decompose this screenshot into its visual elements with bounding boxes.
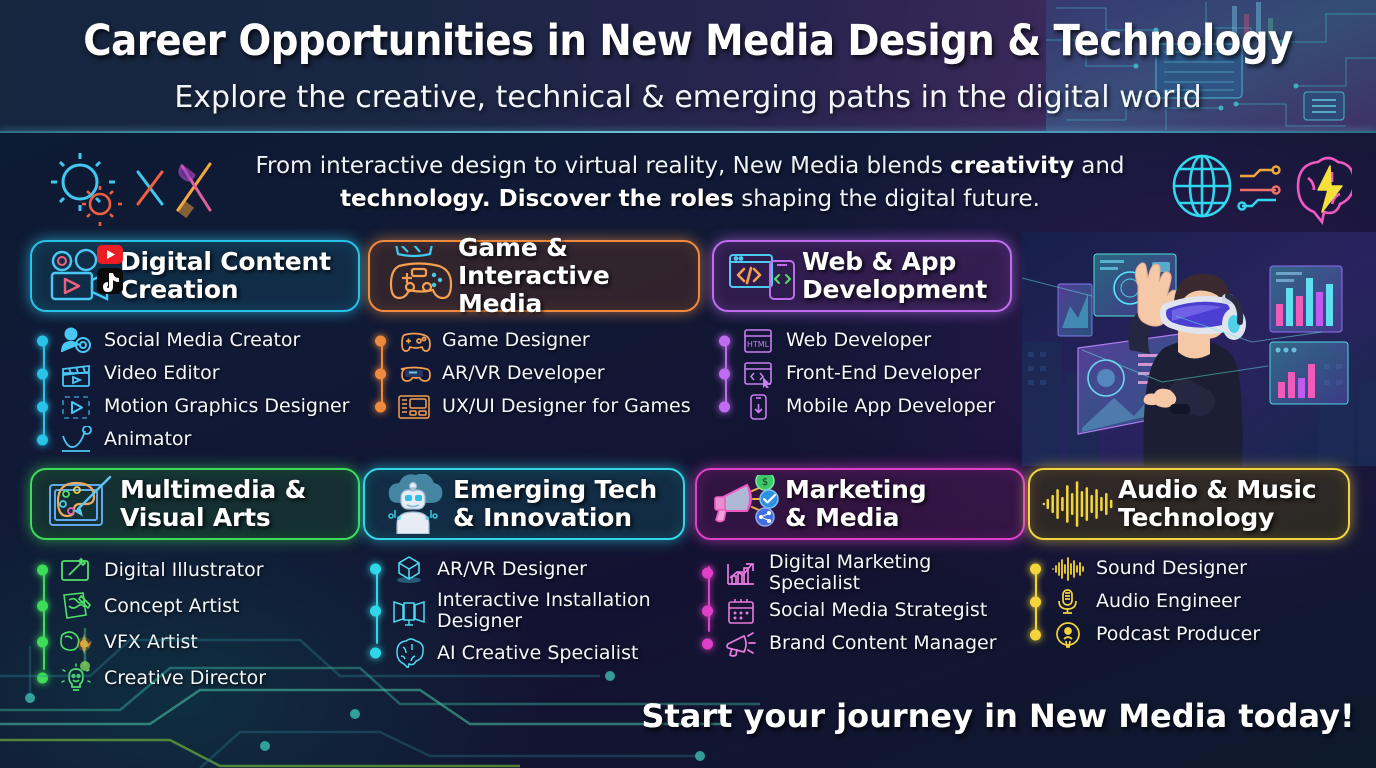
bullet-dot bbox=[370, 564, 381, 575]
card-header[interactable]: Digital Content Creation bbox=[30, 240, 360, 312]
card-title: Multimedia & Visual Arts bbox=[120, 476, 306, 532]
list-item[interactable]: AR/VR Designer bbox=[387, 552, 685, 586]
card-header[interactable]: Web & App Development bbox=[712, 240, 1012, 312]
card-title: Game & Interactive Media bbox=[458, 234, 684, 318]
card-title-line2: Technology bbox=[1118, 504, 1316, 532]
list-item[interactable]: Motion Graphics Designer bbox=[54, 390, 360, 423]
intro-text-part1: From interactive design to virtual reali… bbox=[255, 153, 950, 179]
item-label: Web Developer bbox=[786, 330, 931, 351]
list-item[interactable]: Animator bbox=[54, 423, 360, 456]
item-label: Social Media Creator bbox=[104, 330, 300, 351]
item-label: AR/VR Designer bbox=[437, 559, 587, 580]
intro-band: From interactive design to virtual reali… bbox=[0, 140, 1376, 232]
svg-text:$: $ bbox=[762, 477, 768, 488]
intro-text: From interactive design to virtual reali… bbox=[235, 150, 1145, 216]
list-item[interactable]: Brand Content Manager bbox=[719, 627, 1025, 660]
item-label: Podcast Producer bbox=[1096, 624, 1260, 645]
bullet-dot bbox=[1030, 596, 1041, 607]
list-item[interactable]: Digital Illustrator bbox=[54, 552, 360, 588]
list-item[interactable]: Social Media Strategist bbox=[719, 594, 1025, 627]
card-header[interactable]: Multimedia & Visual Arts bbox=[30, 468, 360, 540]
installation-screens-icon bbox=[387, 596, 431, 626]
card-title-line1: Marketing bbox=[785, 476, 926, 504]
clapperboard-icon bbox=[54, 359, 98, 389]
item-label: Video Editor bbox=[104, 363, 220, 384]
vr-headset-icon bbox=[392, 359, 436, 389]
bullet-dot bbox=[37, 601, 48, 612]
card-title-line1: Audio & Music bbox=[1118, 476, 1316, 504]
card-items: HTML Web Developer Front-End Developer M… bbox=[712, 324, 1012, 423]
list-item[interactable]: Video Editor bbox=[54, 357, 360, 390]
card-title-line2: & Innovation bbox=[453, 504, 657, 532]
svg-text:HTML: HTML bbox=[747, 340, 770, 349]
card-items: Sound Designer Audio Engineer Podcast Pr… bbox=[1028, 552, 1350, 651]
bullet-dot bbox=[719, 368, 730, 379]
gear-small-icon bbox=[82, 186, 122, 226]
item-label: Interactive Installation Designer bbox=[437, 590, 667, 632]
bullet-dot bbox=[375, 335, 386, 346]
intro-text-part3: shaping the digital future. bbox=[734, 186, 1040, 212]
infographic-root: Career Opportunities in New Media Design… bbox=[0, 0, 1376, 768]
video-camera-icon bbox=[42, 246, 120, 306]
bullet-dot bbox=[375, 368, 386, 379]
card-title-line1: Digital Content bbox=[120, 248, 331, 276]
item-label: Motion Graphics Designer bbox=[104, 396, 350, 417]
card-title-line1: Emerging Tech bbox=[453, 476, 657, 504]
intro-right-icons bbox=[1162, 148, 1352, 228]
globe-icon bbox=[1174, 156, 1230, 216]
card-title-line2: Development bbox=[802, 276, 987, 304]
hologram-cube-icon bbox=[387, 554, 431, 584]
person-camera-icon bbox=[54, 326, 98, 356]
cross-icon bbox=[138, 172, 162, 204]
intro-left-icons bbox=[32, 148, 222, 228]
list-item[interactable]: Digital Marketing Specialist bbox=[719, 552, 1025, 594]
item-label: Animator bbox=[104, 429, 191, 450]
bullet-dot bbox=[37, 368, 48, 379]
card-title: Marketing & Media bbox=[785, 476, 926, 532]
page-subtitle: Explore the creative, technical & emergi… bbox=[0, 80, 1376, 115]
list-item[interactable]: Audio Engineer bbox=[1046, 585, 1350, 618]
code-cursor-icon bbox=[736, 359, 780, 389]
paintbrush-icon bbox=[178, 164, 210, 216]
bullet-dot bbox=[375, 401, 386, 412]
card-title-line2: Visual Arts bbox=[120, 504, 306, 532]
list-item[interactable]: Concept Artist bbox=[54, 588, 360, 624]
card-title-line2: Creation bbox=[120, 276, 331, 304]
gear-icon bbox=[51, 153, 115, 211]
bullet-dot bbox=[37, 335, 48, 346]
bullet-dot bbox=[37, 401, 48, 412]
bullet-dot bbox=[702, 605, 713, 616]
page-title: Career Opportunities in New Media Design… bbox=[0, 16, 1376, 66]
card-header[interactable]: $ Marketing & Media bbox=[695, 468, 1025, 540]
cta-text: Start your journey in New Media today! bbox=[620, 697, 1376, 735]
card-title: Audio & Music Technology bbox=[1118, 476, 1316, 532]
platform-badges bbox=[96, 244, 124, 304]
card-title-line2: & Media bbox=[785, 504, 926, 532]
tablet-pen-icon bbox=[54, 555, 98, 585]
bullet-dot bbox=[370, 606, 381, 617]
card-items: Game Designer AR/VR Developer UX/UI Desi… bbox=[368, 324, 700, 423]
item-label: Audio Engineer bbox=[1096, 591, 1241, 612]
waveform-small-icon bbox=[1046, 554, 1090, 584]
list-item[interactable]: AR/VR Developer bbox=[392, 357, 700, 390]
html-window-icon: HTML bbox=[736, 326, 780, 356]
list-item[interactable]: HTML Web Developer bbox=[736, 324, 1012, 357]
intro-text-part2: and bbox=[1074, 153, 1125, 179]
ui-wireframe-icon bbox=[392, 392, 436, 422]
card-title: Digital Content Creation bbox=[120, 248, 331, 304]
animation-curve-icon bbox=[54, 425, 98, 455]
item-label: Social Media Strategist bbox=[769, 600, 987, 621]
header-banner: Career Opportunities in New Media Design… bbox=[0, 0, 1376, 133]
list-item[interactable]: Front-End Developer bbox=[736, 357, 1012, 390]
item-label: Front-End Developer bbox=[786, 363, 981, 384]
megaphone-social-icon: $ bbox=[707, 474, 785, 534]
vr-illustration bbox=[1022, 232, 1376, 466]
item-label: Mobile App Developer bbox=[786, 396, 995, 417]
list-item[interactable]: Social Media Creator bbox=[54, 324, 360, 357]
card-title-line2: Interactive Media bbox=[458, 262, 684, 318]
list-item[interactable]: UX/UI Designer for Games bbox=[392, 390, 700, 423]
list-item[interactable]: Sound Designer bbox=[1046, 552, 1350, 585]
card-title-line1: Multimedia & bbox=[120, 476, 306, 504]
bullet-dot bbox=[37, 565, 48, 576]
palette-tablet-icon bbox=[42, 474, 120, 534]
waveform-icon bbox=[1040, 474, 1118, 534]
bullet-dot bbox=[719, 335, 730, 346]
tiktok-icon bbox=[97, 268, 123, 294]
calendar-icon bbox=[719, 596, 763, 626]
item-label: UX/UI Designer for Games bbox=[442, 396, 691, 417]
circuit-nodes-icon bbox=[1239, 167, 1280, 210]
bullet-dot bbox=[702, 568, 713, 579]
list-item[interactable]: Game Designer bbox=[392, 324, 700, 357]
item-label: Digital Illustrator bbox=[104, 560, 264, 581]
intro-bold-technology: technology. Discover the roles bbox=[340, 186, 734, 212]
card-header[interactable]: Game & Interactive Media bbox=[368, 240, 700, 312]
microphone-icon bbox=[1046, 587, 1090, 617]
card-header[interactable]: Emerging Tech & Innovation bbox=[363, 468, 685, 540]
card-web-app-development[interactable]: Web & App Development HTML Web Developer… bbox=[712, 240, 1012, 423]
intro-bold-creativity: creativity bbox=[950, 153, 1074, 179]
gamepad-icon bbox=[380, 246, 458, 306]
item-label: Game Designer bbox=[442, 330, 590, 351]
item-label: Digital Marketing Specialist bbox=[769, 552, 1025, 594]
bullet-dot bbox=[1030, 563, 1041, 574]
ar-glasses-icon bbox=[396, 246, 432, 256]
item-label: Concept Artist bbox=[104, 596, 240, 617]
motion-frame-icon bbox=[54, 392, 98, 422]
bullet-dot bbox=[37, 434, 48, 445]
card-digital-content-creation[interactable]: Digital Content Creation Social Media Cr… bbox=[30, 240, 360, 456]
bullet-dot bbox=[719, 401, 730, 412]
youtube-icon bbox=[97, 245, 123, 264]
card-audio-music-technology[interactable]: Audio & Music Technology Sound Designer … bbox=[1028, 468, 1350, 651]
growth-chart-icon bbox=[719, 558, 763, 588]
card-title: Web & App Development bbox=[802, 248, 987, 304]
phone-download-icon bbox=[736, 392, 780, 422]
list-item[interactable]: Mobile App Developer bbox=[736, 390, 1012, 423]
item-label: AR/VR Developer bbox=[442, 363, 605, 384]
gamepad-small-icon bbox=[392, 326, 436, 356]
list-item[interactable]: Podcast Producer bbox=[1046, 618, 1350, 651]
card-title-line1: Game & bbox=[458, 234, 684, 262]
card-title-line1: Web & App bbox=[802, 248, 987, 276]
podcast-icon bbox=[1046, 620, 1090, 650]
card-game-interactive-media[interactable]: Game & Interactive Media Game Designer A… bbox=[368, 240, 700, 423]
item-label: Brand Content Manager bbox=[769, 633, 997, 654]
card-items: Social Media Creator Video Editor Motion… bbox=[30, 324, 360, 456]
card-header[interactable]: Audio & Music Technology bbox=[1028, 468, 1350, 540]
ai-robot-cloud-icon bbox=[375, 474, 453, 534]
item-label: Sound Designer bbox=[1096, 558, 1247, 579]
bullet-dot bbox=[1030, 629, 1041, 640]
code-window-phone-icon bbox=[724, 246, 802, 306]
timeline-rail bbox=[43, 338, 45, 438]
header-divider bbox=[0, 131, 1376, 133]
card-title: Emerging Tech & Innovation bbox=[453, 476, 657, 532]
sketchpad-icon bbox=[54, 591, 98, 621]
